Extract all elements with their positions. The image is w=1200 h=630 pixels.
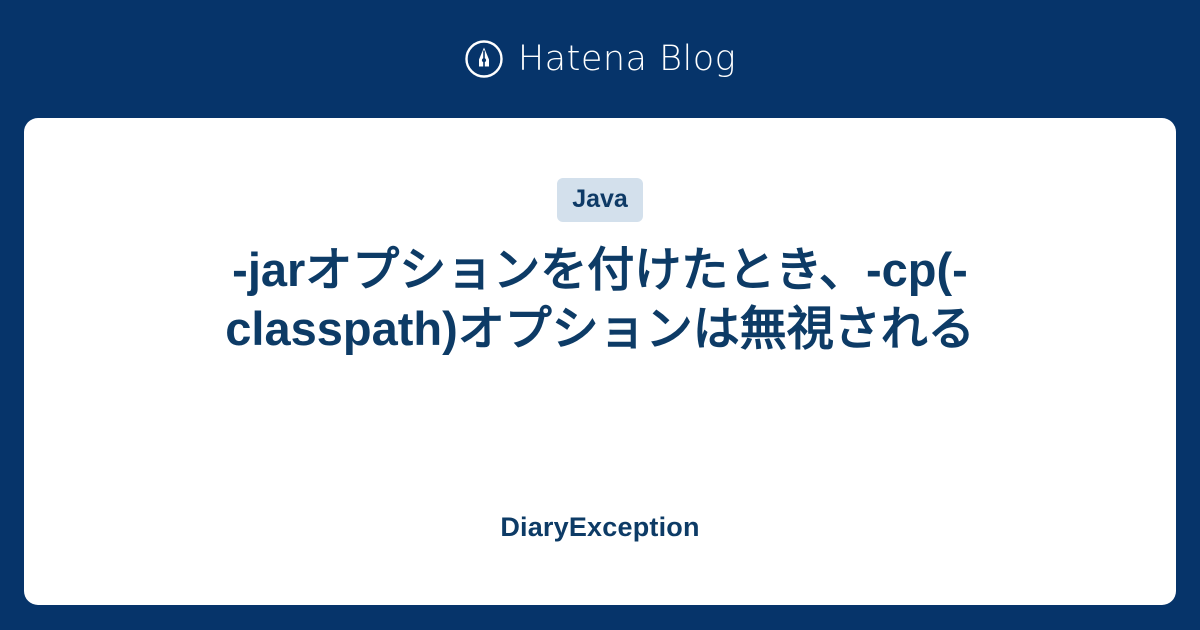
entry-card: Java -jarオプションを付けたとき、-cp(-classpath)オプショ…	[24, 118, 1176, 605]
entry-title: -jarオプションを付けたとき、-cp(-classpath)オプションは無視さ…	[205, 240, 995, 358]
category-tag-java[interactable]: Java	[557, 178, 643, 222]
brand-name-label: Hatena Blog	[518, 42, 736, 77]
hatena-blog-logo	[464, 39, 504, 79]
blog-title-row: DiaryException	[24, 511, 1176, 605]
fountain-pen-nib-in-circle-icon	[464, 39, 504, 79]
category-tag-row: Java	[557, 178, 643, 222]
blog-title[interactable]: DiaryException	[500, 511, 699, 543]
entry-card-inner: Java -jarオプションを付けたとき、-cp(-classpath)オプショ…	[24, 118, 1176, 511]
ogp-card-canvas: Hatena Blog Java -jarオプションを付けたとき、-cp(-cl…	[0, 0, 1200, 630]
brand-header: Hatena Blog	[0, 0, 1200, 118]
